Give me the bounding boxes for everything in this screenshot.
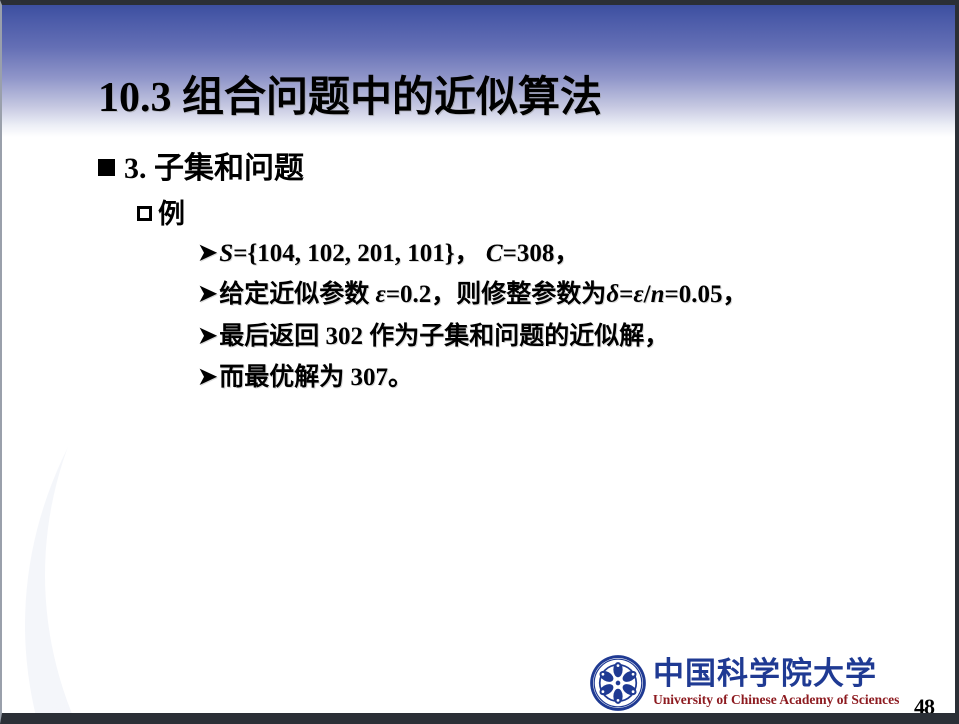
arrow-bullet-icon: ➤ (198, 241, 217, 264)
presentation-slide: 10.3 组合问题中的近似算法 3. 子集和问题 例 ➤ S={104, 102… (0, 0, 959, 724)
approx-param-prefix: 给定近似参数 (219, 281, 375, 308)
ucas-seal-icon (589, 654, 647, 712)
bullet-level3-item: ➤ 最后返回 302 作为子集和问题的近似解， (198, 319, 959, 355)
bullet-level3-item: ➤ S={104, 102, 201, 101}， C=308， (198, 236, 959, 272)
variable-delta: δ (606, 281, 619, 308)
bullet-level3-item: ➤ 而最优解为 307。 (198, 360, 959, 396)
slide-title-text: 组合问题中的近似算法 (182, 75, 602, 121)
university-logo: 中国科学院大学 University of Chinese Academy of… (587, 650, 925, 716)
university-name-cn: 中国科学院大学 (653, 658, 899, 691)
slide-title-number: 10.3 (98, 75, 172, 121)
variable-n: n (651, 281, 665, 308)
delta-value: =0.05， (665, 281, 748, 308)
arrow-bullet-icon: ➤ (198, 282, 217, 305)
epsilon-value: =0.2，则修整参数为 (386, 281, 607, 308)
bullet-level1: 3. 子集和问题 (98, 151, 959, 188)
set-definition: ={104, 102, 201, 101}， (233, 240, 479, 267)
capacity-value: =308， (503, 240, 580, 267)
slide-title: 10.3 组合问题中的近似算法 (98, 63, 602, 124)
bullet-level2: 例 (137, 198, 959, 230)
variable-epsilon-2: ε (633, 281, 643, 308)
university-logo-text: 中国科学院大学 University of Chinese Academy of… (653, 658, 899, 707)
variable-c: C (486, 240, 503, 267)
filled-square-bullet-icon (98, 159, 115, 176)
bullet-level3-label-3: 最后返回 302 作为子集和问题的近似解， (219, 319, 669, 355)
arrow-bullet-icon: ➤ (198, 365, 217, 388)
slide-body: 3. 子集和问题 例 ➤ S={104, 102, 201, 101}， C=3… (2, 151, 959, 396)
bullet-level3-label-4: 而最优解为 307。 (219, 360, 413, 396)
bullet-level1-label: 3. 子集和问题 (124, 151, 304, 188)
bullet-level2-label: 例 (158, 198, 185, 230)
variable-s: S (219, 240, 233, 267)
hollow-square-bullet-icon (137, 206, 152, 221)
bullet-level3-label-2: 给定近似参数 ε=0.2，则修整参数为δ=ε/n=0.05， (219, 277, 747, 313)
slide-number: 48 (914, 694, 934, 720)
arrow-bullet-icon: ➤ (198, 324, 217, 347)
bullet-level3-item: ➤ 给定近似参数 ε=0.2，则修整参数为δ=ε/n=0.05， (198, 277, 959, 313)
bullet-level3-label-1: S={104, 102, 201, 101}， C=308， (219, 236, 579, 272)
university-name-en: University of Chinese Academy of Science… (653, 693, 899, 708)
variable-epsilon: ε (376, 281, 386, 308)
